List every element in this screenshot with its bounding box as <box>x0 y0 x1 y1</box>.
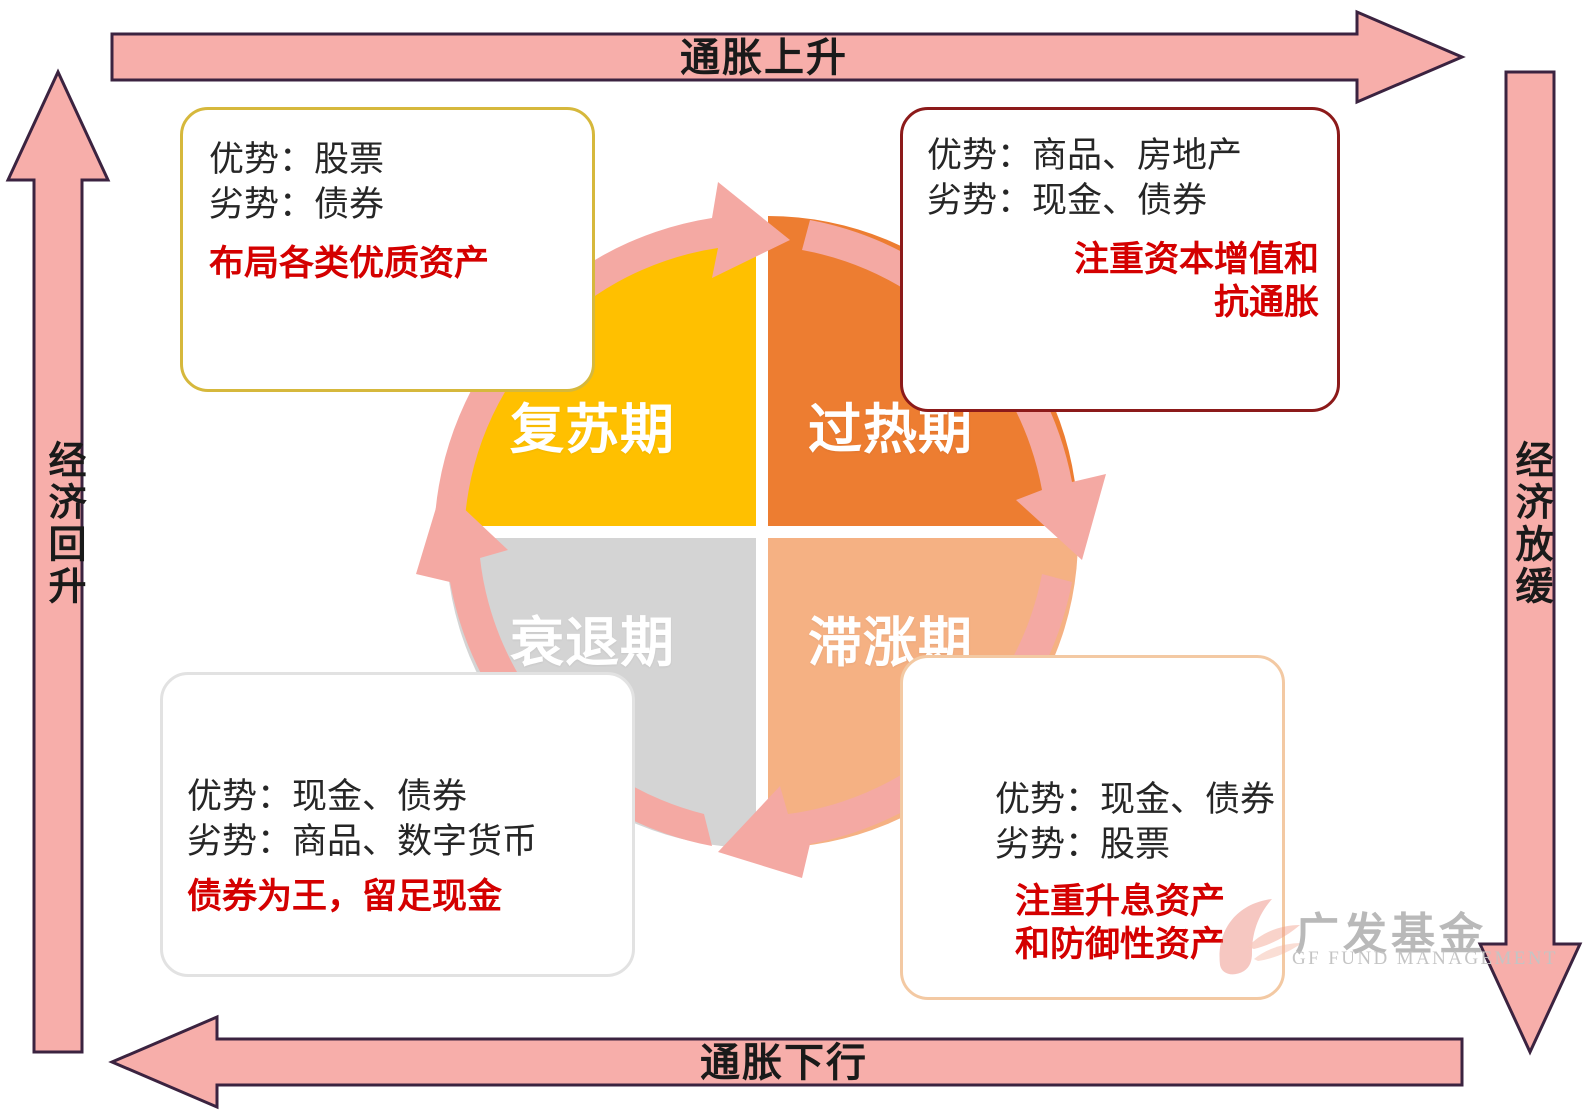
band-label-left: 经济回升 <box>36 440 91 608</box>
recession-cons: 劣势：商品、数字货币 <box>187 820 632 865</box>
info-box-recovery: 优势：股票 劣势：债券 布局各类优质资产 <box>180 107 595 392</box>
recovery-pros: 优势：股票 <box>209 138 592 183</box>
quadrant-label-recovery: 复苏期 <box>510 385 675 464</box>
overheat-advice-1: 注重资本增值和 <box>927 238 1337 282</box>
band-label-top: 通胀上升 <box>680 25 848 83</box>
diagram-canvas: 通胀上升 通胀下行 经济回升 经济放缓 优势：股票 劣势：债券 布局各类优质资产… <box>0 0 1591 1119</box>
info-box-overheat: 优势：商品、房地产 劣势：现金、债券 注重资本增值和 抗通胀 <box>900 107 1340 412</box>
recovery-advice-1: 布局各类优质资产 <box>209 242 592 286</box>
band-label-bottom: 通胀下行 <box>700 1030 868 1088</box>
overheat-cons: 劣势：现金、债券 <box>927 179 1337 224</box>
stagflation-pros: 优势：现金、债券 <box>995 778 1282 823</box>
overheat-pros: 优势：商品、房地产 <box>927 134 1337 179</box>
info-box-recession: 优势：现金、债券 劣势：商品、数字货币 债券为王，留足现金 <box>160 672 635 977</box>
quadrant-label-recession: 衰退期 <box>510 598 675 677</box>
watermark-subtitle: GF FUND MANAGEMENT <box>1292 948 1558 970</box>
recovery-cons: 劣势：债券 <box>209 183 592 228</box>
stagflation-cons: 劣势：股票 <box>995 823 1282 868</box>
recession-pros: 优势：现金、债券 <box>187 775 632 820</box>
recession-advice-1: 债券为王，留足现金 <box>187 875 632 919</box>
overheat-advice-2: 抗通胀 <box>927 281 1337 325</box>
band-label-right: 经济放缓 <box>1503 440 1558 608</box>
gf-fund-logo-icon <box>1208 893 1304 982</box>
